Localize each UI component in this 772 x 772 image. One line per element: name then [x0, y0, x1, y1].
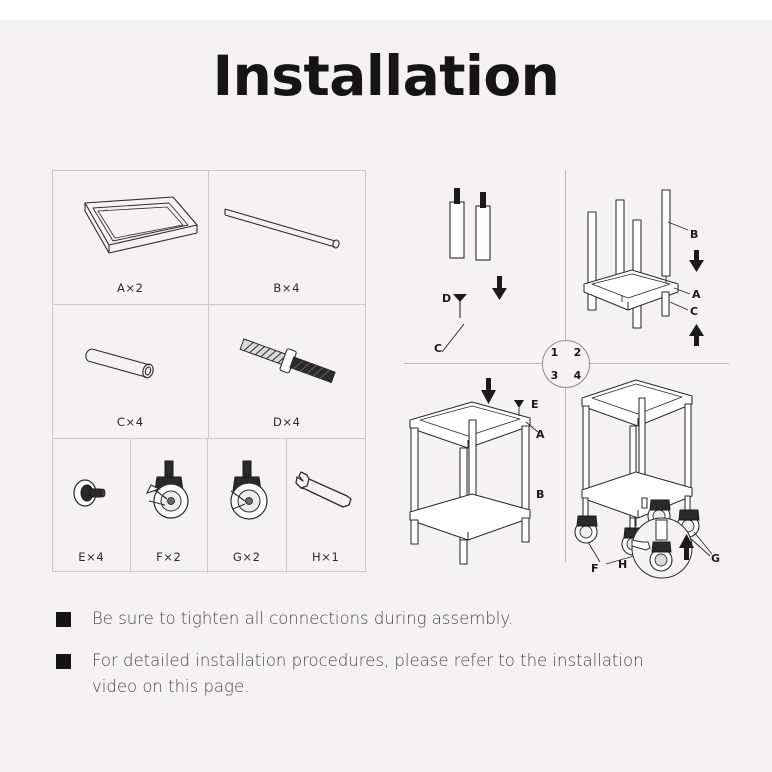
- part-cell-g: G×2: [208, 439, 287, 573]
- part-label-c: C×4: [53, 415, 208, 429]
- assembly-step-3: E A B: [402, 370, 562, 566]
- page-title: Installation: [0, 46, 772, 106]
- step1-label-d: D: [442, 292, 451, 305]
- part-cell-b: B×4: [209, 171, 366, 304]
- part-art-tray-frame-panel: [53, 189, 208, 257]
- note-item: Be sure to tighten all connections durin…: [54, 606, 654, 632]
- part-art-short-sleeve-tube: [53, 323, 208, 391]
- part-cell-c: C×4: [53, 305, 209, 438]
- step3-label-e: E: [531, 398, 539, 411]
- step-number-1: 1: [543, 341, 566, 364]
- part-label-d: D×4: [209, 415, 366, 429]
- part-art-wrench: [287, 463, 365, 523]
- step3-label-b: B: [536, 488, 544, 501]
- parts-list-grid: A×2 B×4: [52, 170, 366, 572]
- parts-row-1: A×2 B×4: [53, 171, 365, 304]
- step1-label-c: C: [434, 342, 442, 355]
- step4-label-h: H: [618, 558, 627, 571]
- step-number-4: 4: [566, 364, 589, 387]
- step3-label-a: A: [536, 428, 545, 441]
- parts-row-2: C×4: [53, 305, 365, 438]
- step-number-3: 3: [543, 364, 566, 387]
- note-text: For detailed installation procedures, pl…: [92, 651, 644, 696]
- part-art-caster-wheel: [208, 457, 286, 527]
- parts-row-3: E×4 F×2: [53, 439, 365, 573]
- step2-label-b: B: [690, 228, 698, 241]
- step-number-2: 2: [566, 341, 589, 364]
- part-cell-e: E×4: [53, 439, 131, 573]
- assembly-step-4: F G H: [570, 370, 732, 570]
- installation-sheet: Installation: [0, 0, 772, 772]
- assembly-step-2: B A C: [570, 172, 730, 360]
- part-art-double-threaded-bolt: [209, 323, 366, 391]
- part-label-h: H×1: [287, 550, 365, 564]
- part-label-e: E×4: [53, 550, 130, 564]
- step-order-circle: 1 2 3 4: [542, 340, 590, 388]
- part-label-f: F×2: [131, 550, 208, 564]
- square-bullet-icon: [56, 612, 71, 627]
- assembly-steps-diagram: D C: [396, 168, 732, 572]
- step2-label-a: A: [692, 288, 701, 301]
- part-art-long-tube-rod: [209, 189, 366, 257]
- part-label-a: A×2: [53, 281, 208, 295]
- part-art-foot-glide: [53, 463, 130, 523]
- part-cell-d: D×4: [209, 305, 366, 438]
- part-cell-a: A×2: [53, 171, 209, 304]
- step4-label-g: G: [711, 552, 720, 565]
- step4-label-f: F: [591, 562, 599, 575]
- part-cell-h: H×1: [287, 439, 365, 573]
- part-cell-f: F×2: [131, 439, 209, 573]
- notes-list: Be sure to tighten all connections durin…: [54, 606, 654, 716]
- part-label-g: G×2: [208, 550, 286, 564]
- square-bullet-icon: [56, 654, 71, 669]
- step2-label-c: C: [690, 305, 698, 318]
- note-text: Be sure to tighten all connections durin…: [92, 609, 513, 628]
- part-label-b: B×4: [209, 281, 366, 295]
- note-item: For detailed installation procedures, pl…: [54, 648, 654, 700]
- part-art-locking-caster: [131, 457, 208, 527]
- assembly-step-1: D C: [402, 172, 562, 360]
